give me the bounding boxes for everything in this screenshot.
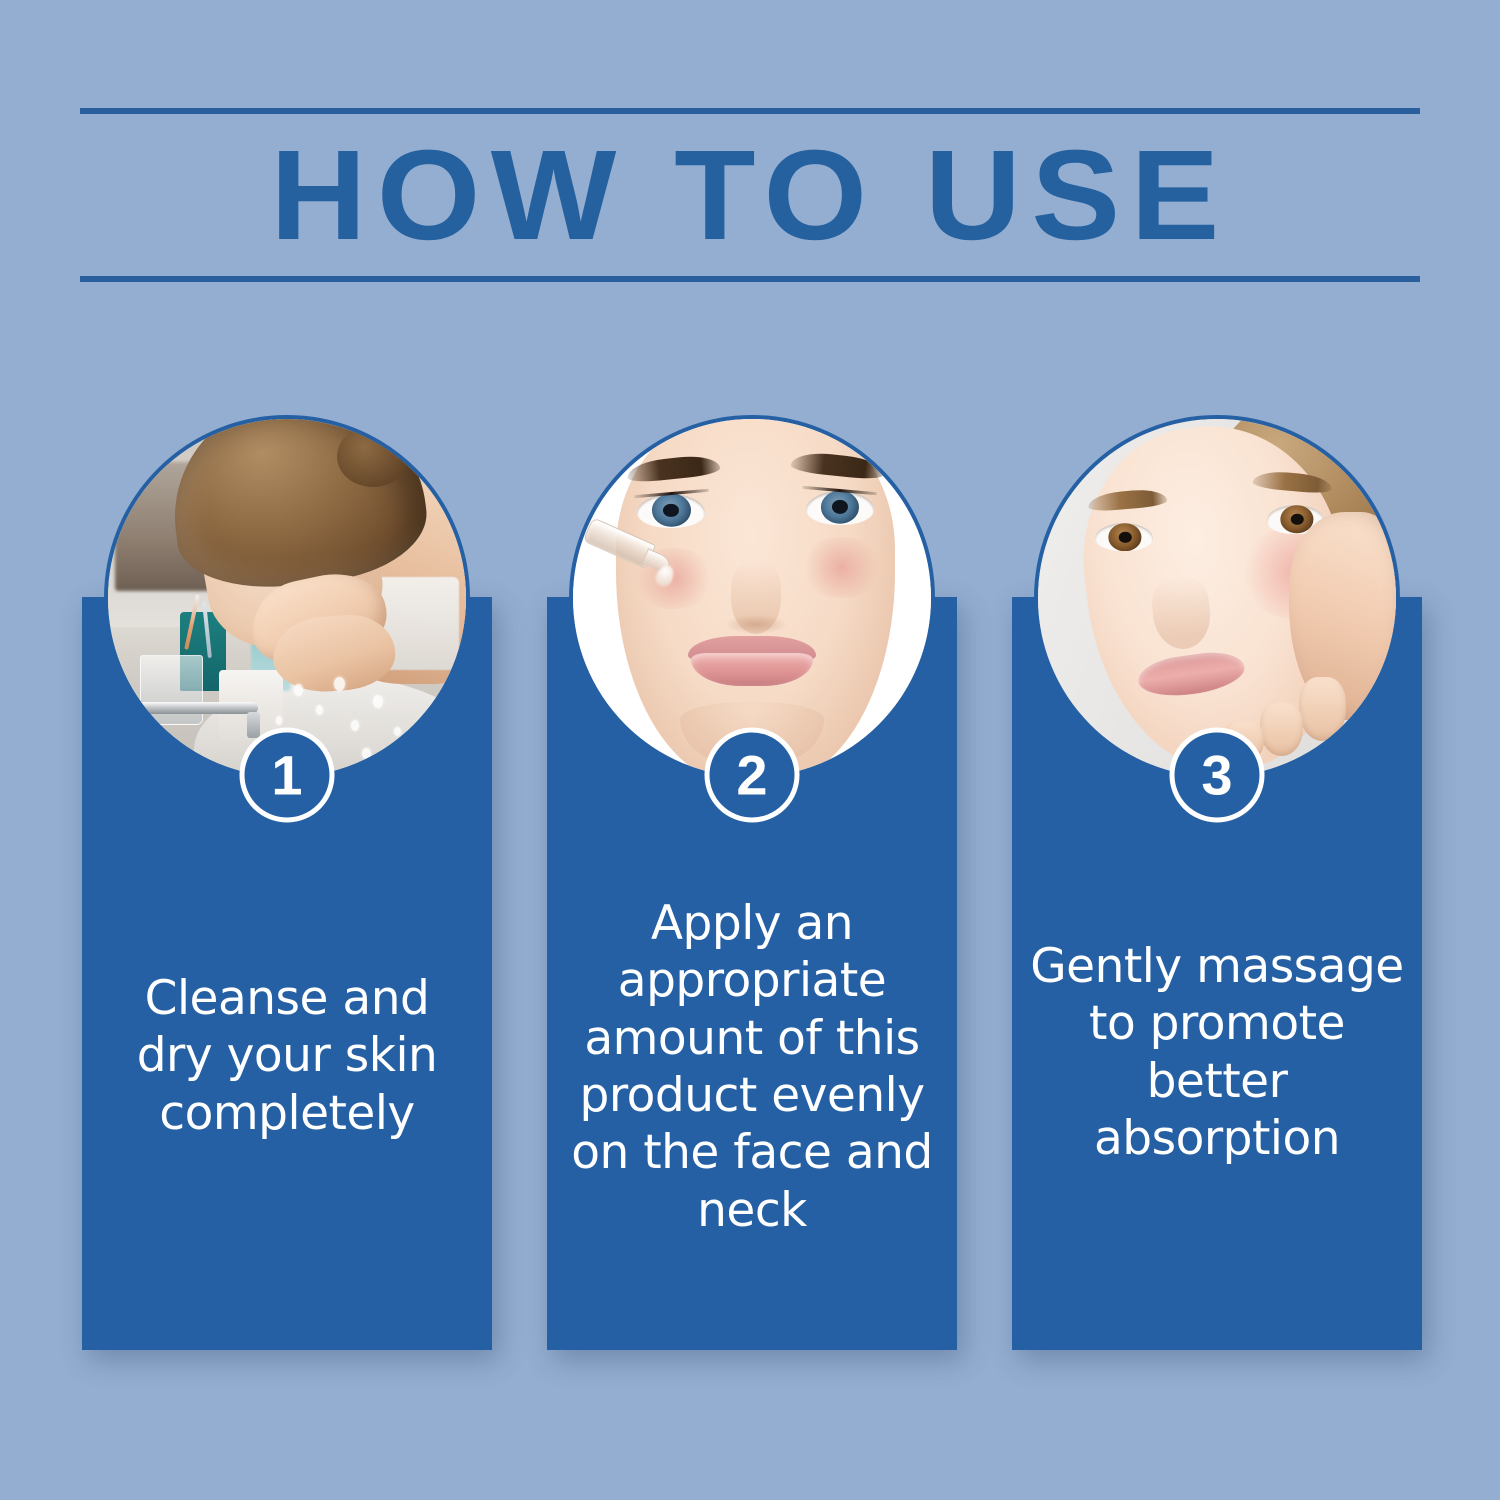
step-1-caption: Cleanse and dry your skin completely	[100, 970, 474, 1142]
step-2-number-badge: 2	[705, 728, 800, 823]
step-card-3: 3 Gently massage to promote better absor…	[1012, 415, 1422, 1350]
steps-container: 1 Cleanse and dry your skin completely	[0, 0, 1500, 1500]
step-card-1: 1 Cleanse and dry your skin completely	[82, 415, 492, 1350]
woman-serum-dropper-photo	[573, 419, 931, 777]
woman-massaging-cheek-photo	[1038, 419, 1396, 777]
step-2-photo	[569, 415, 935, 781]
woman-washing-face-photo	[108, 419, 466, 777]
step-3-caption: Gently massage to promote better absorpt…	[1030, 938, 1404, 1167]
step-1-number-badge: 1	[240, 728, 335, 823]
step-2-caption: Apply an appropriate amount of this prod…	[565, 895, 939, 1239]
step-1-photo	[104, 415, 470, 781]
step-3-number-badge: 3	[1170, 728, 1265, 823]
step-3-photo	[1034, 415, 1400, 781]
step-card-2: 2 Apply an appropriate amount of this pr…	[547, 415, 957, 1350]
